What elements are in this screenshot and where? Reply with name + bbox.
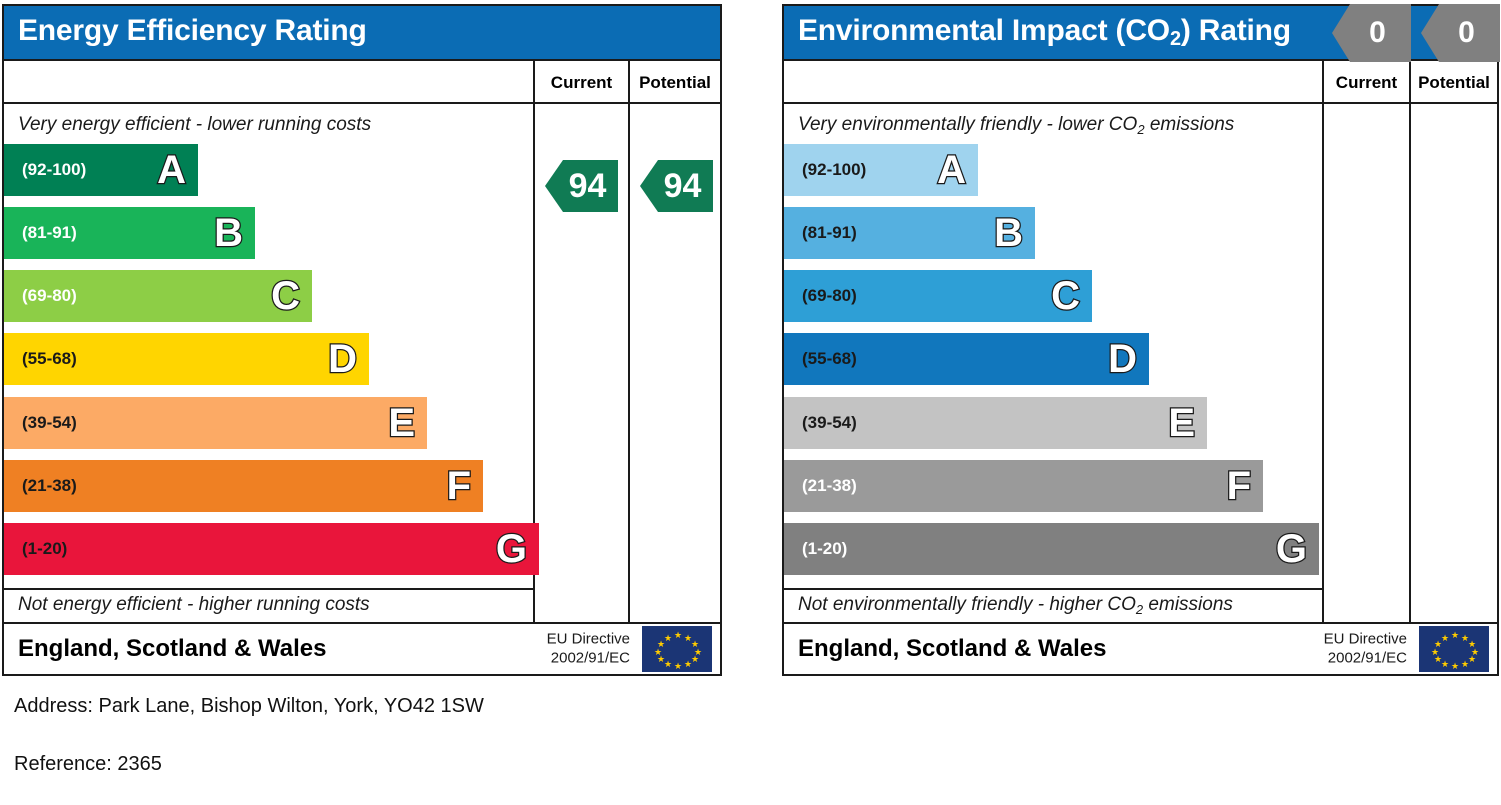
chart-title-bar: Energy Efficiency Rating <box>4 6 720 59</box>
column-divider-2 <box>1409 59 1411 626</box>
band-c-letter: C <box>271 276 300 316</box>
band-e: (39-54) E <box>4 397 427 449</box>
band-f-letter: F <box>1227 466 1251 506</box>
eu-flag-icon: ★ ★ ★ ★ ★ ★ ★ ★ ★ ★ ★ ★ <box>1419 626 1489 672</box>
band-a: (92-100) A <box>784 144 978 196</box>
potential-rating-value: 0 <box>1458 16 1475 50</box>
current-rating-value: 94 <box>569 167 607 206</box>
band-a: (92-100) A <box>4 144 198 196</box>
band-b: (81-91) B <box>4 207 255 259</box>
band-a-letter: A <box>157 150 186 190</box>
chart-footer: England, Scotland & Wales EU Directive 2… <box>784 622 1497 674</box>
column-header-current: Current <box>533 61 628 104</box>
caption-top-prefix: Very environmentally friendly - lower CO <box>798 114 1137 135</box>
page-title-suffix: ) Rating <box>1181 14 1291 47</box>
band-f: (21-38) F <box>784 460 1263 512</box>
eu-flag-icon: ★ ★ ★ ★ ★ ★ ★ ★ ★ ★ ★ ★ <box>642 626 712 672</box>
band-d-letter: D <box>1108 339 1137 379</box>
column-divider-2 <box>628 59 630 626</box>
potential-rating-marker: 94 <box>640 160 713 212</box>
band-a-range: (92-100) <box>22 160 86 180</box>
band-e-letter: E <box>388 403 415 443</box>
column-header-potential: Potential <box>1409 61 1497 104</box>
band-b-letter: B <box>214 213 243 253</box>
band-d-letter: D <box>328 339 357 379</box>
band-f-range: (21-38) <box>22 476 77 496</box>
band-b-range: (81-91) <box>802 223 857 243</box>
footer-region-label: England, Scotland & Wales <box>798 635 1106 663</box>
epc-page: Energy Efficiency Rating Current Potenti… <box>0 0 1501 805</box>
page-title-prefix: Environmental Impact (CO <box>798 14 1170 47</box>
current-rating-value: 0 <box>1369 16 1386 50</box>
caption-bottom-prefix: Not environmentally friendly - higher CO <box>798 594 1136 615</box>
caption-top-subscript: 2 <box>1137 122 1144 137</box>
band-d-range: (55-68) <box>802 349 857 369</box>
eu-directive-line1: EU Directive <box>547 630 630 649</box>
band-e-letter: E <box>1168 403 1195 443</box>
band-d: (55-68) D <box>4 333 369 385</box>
band-f-range: (21-38) <box>802 476 857 496</box>
band-c: (69-80) C <box>784 270 1092 322</box>
band-g: (1-20) G <box>784 523 1319 575</box>
band-f: (21-38) F <box>4 460 483 512</box>
column-header-row: Current Potential <box>4 59 720 104</box>
eu-directive-line2: 2002/91/EC <box>547 649 630 668</box>
band-d-range: (55-68) <box>22 349 77 369</box>
band-g-letter: G <box>496 529 527 569</box>
caption-top: Very environmentally friendly - lower CO… <box>798 114 1234 136</box>
page-title: Energy Efficiency Rating <box>18 14 367 48</box>
band-e-range: (39-54) <box>802 413 857 433</box>
column-header-row: Current Potential <box>784 59 1497 104</box>
column-header-current: Current <box>1322 61 1409 104</box>
caption-bottom-suffix: emissions <box>1143 594 1233 615</box>
band-e: (39-54) E <box>784 397 1207 449</box>
page-title: Environmental Impact (CO2) Rating <box>798 14 1291 48</box>
page-title-subscript: 2 <box>1170 28 1181 50</box>
chart-footer: England, Scotland & Wales EU Directive 2… <box>4 622 720 674</box>
band-g-range: (1-20) <box>802 539 847 559</box>
band-c-range: (69-80) <box>22 286 77 306</box>
band-f-letter: F <box>447 466 471 506</box>
band-b-range: (81-91) <box>22 223 77 243</box>
band-g-letter: G <box>1276 529 1307 569</box>
caption-top-suffix: emissions <box>1145 114 1235 135</box>
band-a-range: (92-100) <box>802 160 866 180</box>
band-e-range: (39-54) <box>22 413 77 433</box>
eu-directive-line1: EU Directive <box>1324 630 1407 649</box>
band-g-range: (1-20) <box>22 539 67 559</box>
energy-efficiency-chart: Energy Efficiency Rating Current Potenti… <box>2 4 722 676</box>
column-header-potential: Potential <box>628 61 720 104</box>
eu-directive-line2: 2002/91/EC <box>1324 649 1407 668</box>
current-rating-marker: 94 <box>545 160 618 212</box>
eu-directive-label: EU Directive 2002/91/EC <box>547 630 630 668</box>
band-b-letter: B <box>994 213 1023 253</box>
band-d: (55-68) D <box>784 333 1149 385</box>
band-c-range: (69-80) <box>802 286 857 306</box>
band-c-letter: C <box>1051 276 1080 316</box>
caption-bottom: Not energy efficient - higher running co… <box>18 594 370 616</box>
band-b: (81-91) B <box>784 207 1035 259</box>
band-c: (69-80) C <box>4 270 312 322</box>
bottom-caption-divider <box>4 588 533 590</box>
reference-text: Reference: 2365 <box>14 753 162 776</box>
environmental-impact-chart: Environmental Impact (CO2) Rating Curren… <box>782 4 1499 676</box>
address-text: Address: Park Lane, Bishop Wilton, York,… <box>14 695 484 718</box>
caption-bottom: Not environmentally friendly - higher CO… <box>798 594 1233 616</box>
caption-top: Very energy efficient - lower running co… <box>18 114 371 136</box>
caption-bottom-subscript: 2 <box>1136 602 1143 617</box>
potential-rating-value: 94 <box>664 167 702 206</box>
band-a-letter: A <box>937 150 966 190</box>
bottom-caption-divider <box>784 588 1322 590</box>
footer-region-label: England, Scotland & Wales <box>18 635 326 663</box>
column-divider-1 <box>1322 59 1324 626</box>
eu-directive-label: EU Directive 2002/91/EC <box>1324 630 1407 668</box>
band-g: (1-20) G <box>4 523 539 575</box>
